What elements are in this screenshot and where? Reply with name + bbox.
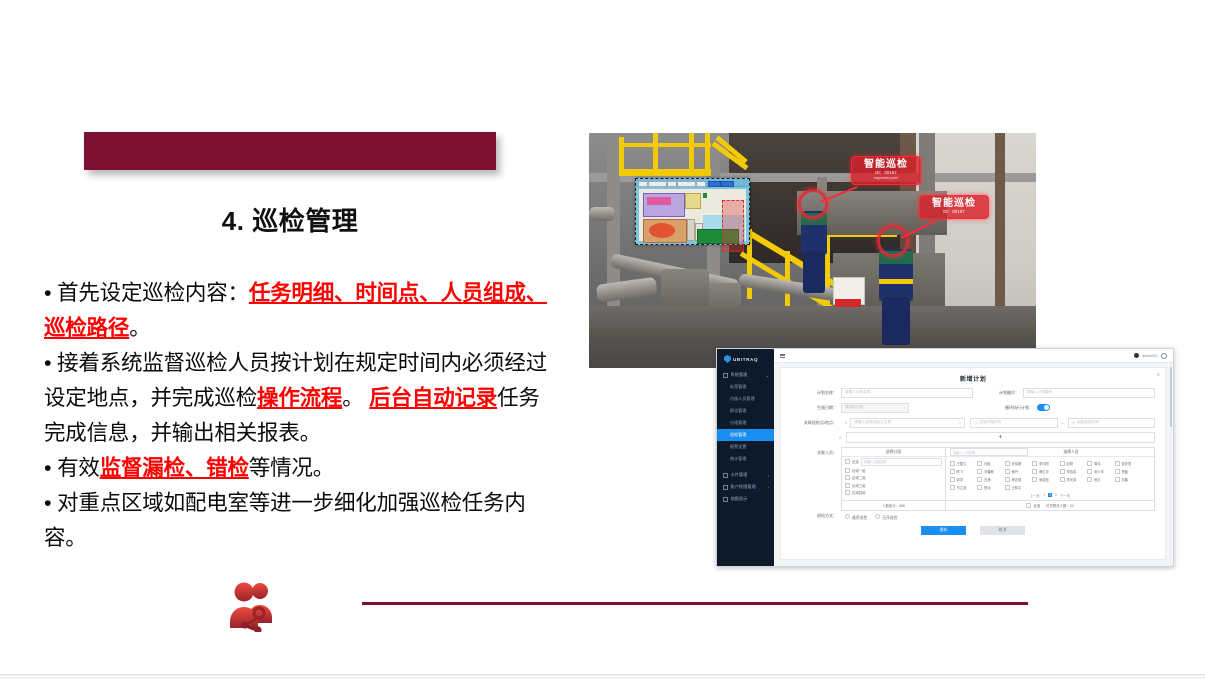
scrollbar[interactable] (1170, 363, 1173, 562)
point-row-index: 1 (841, 421, 847, 425)
person-label: 刘春敏 (984, 469, 994, 474)
plan-no-label: 计划编号： (973, 390, 1019, 396)
person-label: 白静 (984, 477, 991, 482)
save-button[interactable]: 保存 (921, 526, 966, 535)
checkbox-icon[interactable] (1005, 461, 1010, 466)
ar-tag-1: 智能巡检 ID：00167 inspection point (851, 156, 921, 185)
sidebar-group-account[interactable]: 账户权限管理 › (717, 481, 774, 493)
pager-page-2[interactable]: 2 (1048, 493, 1052, 497)
group-search-placeholder: 请输入分组名称 (864, 459, 886, 464)
ar-tag-1-sub: inspection point (858, 176, 914, 181)
person-cell[interactable]: 杨志强 (1003, 475, 1031, 483)
bullet-2-seg-2: 。 (342, 386, 369, 410)
group-label: 区域二组 (852, 475, 866, 480)
pager-next[interactable]: 下一页 (1059, 493, 1071, 498)
bullet-2-seg-1: 操作流程 (257, 386, 342, 410)
form-title: 新增计划 (781, 368, 1165, 385)
add-point-row[interactable]: + (846, 432, 1155, 443)
sidebar-group-card[interactable]: 卡片管理 › (717, 469, 774, 481)
sidebar-item-stats[interactable]: 统计管理 (717, 453, 774, 465)
add-row-index: 2 (835, 436, 841, 440)
clock-icon: ◷ (974, 420, 978, 425)
person-label: 刘鹏 (1121, 477, 1128, 482)
row-point: 关联巡检点/地点： 1 请输入/选择巡检点名称 ⌕ ◷ 起始开始时间 — ◷ 起… (781, 415, 1165, 430)
sidebar-item-position[interactable]: 职位管理 (717, 405, 774, 417)
checkbox-icon[interactable] (1060, 469, 1065, 474)
person-cell[interactable]: 张小华 (1085, 467, 1113, 475)
gear-icon[interactable] (1161, 353, 1167, 359)
checkbox-icon[interactable] (1115, 469, 1120, 474)
person-label: 郭洋 (956, 477, 963, 482)
sidebar-group-system[interactable]: 系统管理 ⌄ (717, 369, 774, 381)
person-cell[interactable]: 熊文 (1085, 475, 1113, 483)
person-label: 杨志强 (1011, 477, 1021, 482)
group-item[interactable]: 区域三组 (842, 482, 945, 489)
checkbox-icon[interactable] (977, 469, 982, 474)
checkbox-icon[interactable] (1087, 469, 1092, 474)
hmi-alarm-zone (722, 200, 744, 252)
checkbox-icon[interactable] (977, 461, 982, 466)
plan-no-input[interactable]: 请输入计划编号 (1023, 388, 1155, 398)
checkbox-icon[interactable] (845, 468, 850, 473)
group-panel: 选择分组 全选 请输入分组名称 区域一组 区域二组 区域三组 (842, 448, 946, 500)
people-footer-all: 全选 (1033, 503, 1040, 508)
calendar-icon: ▫ (904, 405, 905, 410)
bullet-1-seg-0: • 首先设定巡检内容： (44, 281, 249, 305)
group-all-row[interactable]: 全选 请输入分组名称 (842, 457, 945, 467)
person-label: 周伟 (1094, 461, 1101, 466)
person-label: 熊文 (1094, 477, 1101, 482)
checkbox-icon[interactable] (1060, 477, 1065, 482)
date-input[interactable]: 请选择日期 ▫ (841, 403, 909, 413)
bullet-4: • 对重点区域如配电室等进一步细化加强巡检任务内容。 (44, 486, 560, 556)
time-end-placeholder: 起始结束时间 (1077, 420, 1151, 425)
person-label: 张小华 (1094, 469, 1104, 474)
people-footer-count: 可关联总人数：24 (1046, 503, 1074, 508)
group-item[interactable]: 区域一组 (842, 467, 945, 474)
checkbox-icon[interactable] (977, 477, 982, 482)
time-start-placeholder: 起始开始时间 (980, 420, 1054, 425)
cancel-button[interactable]: 取消 (980, 526, 1025, 535)
app-logo: UBITRAQ (717, 349, 774, 369)
repeat-label: 循环执行计划： (973, 405, 1033, 411)
checkbox-icon[interactable] (845, 483, 850, 488)
bullet-1: • 首先设定巡检内容：任务明细、时间点、人员组成、巡检路径。 (44, 276, 560, 346)
sidebar-group-map-label: 地图显示 (731, 496, 748, 502)
person-cell[interactable]: 王和平 (1003, 484, 1031, 492)
checkbox-icon[interactable] (1005, 469, 1010, 474)
checkbox-icon[interactable] (1032, 461, 1037, 466)
checkbox-icon[interactable] (977, 485, 982, 490)
radio-icon[interactable] (875, 514, 880, 519)
sidebar-group-map[interactable]: 地图显示 (717, 493, 774, 505)
checkbox-icon[interactable] (1005, 485, 1010, 490)
hamburger-icon[interactable] (780, 354, 785, 358)
clock-icon: ◷ (1072, 420, 1076, 425)
route-mode-option-ordered[interactable]: 顺序巡检 (845, 514, 867, 521)
person-cell[interactable]: 李天泉 (1058, 475, 1086, 483)
ar-tag-2: 智能巡检 ID：00167 (919, 195, 989, 219)
bullet-1-seg-2: 。 (129, 316, 150, 340)
people-panel: 请输入人员名称 选择人员 王国立 孙磊 张伟刚 李向阳 赵刚 (946, 448, 1154, 500)
title-accent-bar (84, 132, 496, 170)
group-search-input[interactable]: 请输入分组名称 (861, 458, 942, 466)
ar-ring-lower (877, 225, 909, 257)
person-cell[interactable]: 孙磊 (975, 459, 1003, 467)
sidebar-group-card-label: 卡片管理 (731, 472, 748, 478)
sidebar-item-tag[interactable]: 标签管理 (717, 381, 774, 393)
chevron-right-icon: › (768, 473, 769, 478)
person-label: 曹磊 (1121, 469, 1128, 474)
app-topbar: admin001 (774, 349, 1173, 363)
date-label: 生效日期： (791, 405, 837, 411)
route-mode-option-1-label: 无序巡检 (882, 516, 897, 520)
person-cell[interactable]: 白静 (975, 475, 1003, 483)
person-cell[interactable]: 陈飞 (948, 467, 976, 475)
checkbox-icon[interactable] (1005, 477, 1010, 482)
person-cell[interactable]: 赵刚 (1058, 459, 1086, 467)
row-plan-name: 计划名称： 请输入计划名称 计划编号： 请输入计划编号 (781, 385, 1165, 400)
group-panel-head: 选择分组 (842, 448, 945, 457)
group-label: 区域一组 (852, 468, 866, 473)
ar-tag-2-title: 智能巡检 (926, 198, 982, 209)
checkbox-icon[interactable] (950, 469, 955, 474)
sidebar-item-group[interactable]: 分组管理 (717, 417, 774, 429)
new-plan-card: ✕ 新增计划 计划名称： 请输入计划名称 计划编号： 请输入计划编号 (780, 367, 1166, 560)
checkbox-icon[interactable] (1032, 469, 1037, 474)
app-sidebar: UBITRAQ 系统管理 ⌄ 标签管理 内部人员管理 职位管理 分组管理 巡检管… (717, 349, 774, 566)
checkbox-icon[interactable] (1026, 503, 1031, 508)
person-label: 王国立 (956, 461, 966, 466)
group-footer-count: 人数统计：888 (842, 501, 946, 510)
sidebar-item-staff[interactable]: 内部人员管理 (717, 393, 774, 405)
radio-icon[interactable] (845, 514, 850, 519)
person-cell[interactable]: 王国立 (948, 459, 976, 467)
point-label: 关联巡检点/地点： (791, 420, 837, 426)
shield-icon (724, 355, 731, 363)
checkbox-icon[interactable] (1115, 477, 1120, 482)
app-main: admin001 ✕ 新增计划 计划名称： 请输入计划名称 计划编号： (774, 349, 1173, 566)
grid-icon (723, 373, 728, 378)
bullet-3-seg-0: • 有效 (44, 456, 100, 480)
person-cell[interactable]: 李向阳 (1030, 459, 1058, 467)
person-cell[interactable]: 马立波 (948, 484, 976, 492)
person-cell[interactable]: 李鑫成 (1058, 467, 1086, 475)
person-cell[interactable]: 吴晓哲 (1030, 475, 1058, 483)
person-label: 张伟刚 (1011, 461, 1021, 466)
checkbox-icon[interactable] (950, 461, 955, 466)
plan-name-placeholder: 请输入计划名称 (845, 390, 969, 395)
checkbox-icon[interactable] (1060, 461, 1065, 466)
checkbox-icon[interactable] (1087, 477, 1092, 482)
person-cell[interactable]: 张伟刚 (1003, 459, 1031, 467)
chevron-down-icon: ⌄ (765, 373, 769, 378)
plant-hmi-overlay (635, 178, 750, 245)
app-logo-text: UBITRAQ (733, 357, 758, 362)
bullet-4-seg-0: • 对重点区域如配电室等进一步细化加强巡检任务内容。 (44, 491, 526, 550)
checkbox-icon[interactable] (845, 490, 850, 495)
group-item[interactable]: 区域四组 (842, 489, 945, 496)
plan-name-input[interactable]: 请输入计划名称 (841, 388, 973, 398)
sidebar-group-system-label: 系统管理 (731, 372, 748, 378)
ar-tag-1-title: 智能巡检 (858, 159, 914, 170)
person-cell[interactable]: 刘鹏 (1113, 475, 1141, 483)
sidebar-item-inspection[interactable]: 巡检管理 (717, 429, 774, 441)
user-icon (723, 485, 728, 490)
person-cell[interactable]: 徐亚男 (1113, 459, 1141, 467)
pager-page-3[interactable]: 3 (1054, 493, 1058, 497)
people-panel-head: 请输入人员名称 选择人员 (946, 448, 1154, 457)
checkbox-icon[interactable] (950, 485, 955, 490)
person-cell[interactable]: 郭洋 (948, 475, 976, 483)
chevron-right-icon: › (768, 485, 769, 490)
checkbox-icon[interactable] (1115, 461, 1120, 466)
checkbox-icon[interactable] (950, 477, 955, 482)
avatar[interactable] (1134, 353, 1139, 358)
bullet-2-seg-3: 后台自动记录 (369, 386, 497, 410)
route-mode-option-0-label: 顺序巡检 (852, 516, 867, 520)
person-cell[interactable]: 贺冰 (975, 484, 1003, 492)
page-title: 4. 巡检管理 (84, 206, 496, 237)
person-label: 赵刚 (1066, 461, 1073, 466)
checkbox-icon[interactable] (1087, 461, 1092, 466)
pager-page-1[interactable]: 1 (1042, 493, 1046, 497)
group-label: 区域三组 (852, 483, 866, 488)
card-icon (723, 473, 728, 478)
plan-name-label: 计划名称： (791, 390, 837, 396)
group-item[interactable]: 区域二组 (842, 474, 945, 481)
slide-bottom-edge (0, 674, 1205, 679)
group-all-label: 全选 (852, 459, 859, 464)
point-placeholder: 请输入/选择巡检点名称 (854, 420, 959, 425)
bullet-3: • 有效监督漏检、错检等情况。 (44, 451, 560, 486)
time-end-input[interactable]: ◷ 起始结束时间 (1068, 418, 1155, 428)
people-search-placeholder: 请输入人员名称 (953, 450, 975, 455)
ar-ring-upper (798, 189, 828, 219)
people-share-icon (228, 580, 286, 632)
bullet-3-seg-2: 等情况。 (249, 456, 334, 480)
sidebar-item-alarm[interactable]: 报警设置 (717, 441, 774, 453)
person-cell[interactable]: 周伟 (1085, 459, 1113, 467)
sidebar-group-account-label: 账户权限管理 (731, 484, 756, 490)
pager-prev[interactable]: 上一页 (1029, 493, 1041, 498)
bullet-2: • 接着系统监督巡检人员按计划在规定时间内必须经过设定地点，并完成巡检操作流程。… (44, 346, 560, 451)
footer-accent-rule (362, 602, 1028, 605)
person-cell[interactable]: 曹磊 (1113, 467, 1141, 475)
people-grid: 王国立 孙磊 张伟刚 李向阳 赵刚 周伟 徐亚男 陈飞 刘春敏 黄丹 黄红宇 (946, 457, 1154, 492)
people-search-input[interactable]: 请输入人员名称 (950, 448, 1028, 456)
personnel-label: 关联人员： (791, 450, 837, 456)
checkbox-icon[interactable] (845, 475, 850, 480)
person-label: 黄丹 (1011, 469, 1018, 474)
map-icon (723, 497, 728, 502)
personnel-picker: 选择分组 全选 请输入分组名称 区域一组 区域二组 区域三组 (841, 447, 1155, 511)
person-cell[interactable]: 刘春敏 (975, 467, 1003, 475)
close-icon[interactable]: ✕ (1157, 372, 1160, 377)
form-buttons: 保存 取消 (781, 521, 1165, 535)
person-label: 吴晓哲 (1039, 477, 1049, 482)
route-mode-option-unordered[interactable]: 无序巡检 (875, 514, 897, 521)
person-label: 黄红宇 (1039, 469, 1049, 474)
date-placeholder: 请选择日期 (845, 405, 904, 410)
industrial-inspection-photo: 智能巡检 ID：00167 inspection point 智能巡检 ID：0… (589, 133, 1036, 368)
plan-no-placeholder: 请输入计划编号 (1027, 390, 1151, 395)
slide-root: 4. 巡检管理 • 首先设定巡检内容：任务明细、时间点、人员组成、巡检路径。 •… (0, 0, 1205, 679)
search-icon[interactable]: ⌕ (959, 420, 961, 425)
ar-tag-2-id: ID：00167 (926, 209, 982, 215)
point-input[interactable]: 请输入/选择巡检点名称 ⌕ (850, 418, 965, 428)
checkbox-icon[interactable] (845, 459, 850, 464)
checkbox-icon[interactable] (1032, 477, 1037, 482)
user-name: admin001 (1142, 354, 1158, 358)
body-text: • 首先设定巡检内容：任务明细、时间点、人员组成、巡检路径。 • 接着系统监督巡… (44, 276, 560, 556)
person-label: 李天泉 (1066, 477, 1076, 482)
inspection-plan-app: UBITRAQ 系统管理 ⌄ 标签管理 内部人员管理 职位管理 分组管理 巡检管… (716, 348, 1174, 567)
time-start-input[interactable]: ◷ 起始开始时间 (970, 418, 1057, 428)
plus-icon: + (998, 434, 1002, 441)
time-separator: — (1061, 420, 1065, 425)
person-label: 马立波 (956, 485, 966, 490)
person-label: 李向阳 (1039, 461, 1049, 466)
person-label: 王和平 (1011, 485, 1021, 490)
person-label: 陈飞 (956, 469, 963, 474)
person-label: 孙磊 (984, 461, 991, 466)
person-label: 徐亚男 (1121, 461, 1131, 466)
person-cell[interactable]: 黄红宇 (1030, 467, 1058, 475)
repeat-toggle[interactable] (1037, 404, 1050, 411)
row-date: 生效日期： 请选择日期 ▫ 循环执行计划： (781, 400, 1165, 415)
select-people-button[interactable]: 选择人员 (1063, 450, 1078, 455)
person-cell[interactable]: 黄丹 (1003, 467, 1031, 475)
bullet-3-seg-1: 监督漏检、错检 (100, 456, 249, 480)
people-pager: 上一页 1 2 3 下一页 (946, 492, 1154, 500)
route-mode-label: 巡检方式： (791, 513, 837, 519)
person-label: 李鑫成 (1066, 469, 1076, 474)
group-label: 区域四组 (852, 490, 866, 495)
person-label: 贺冰 (984, 485, 991, 490)
